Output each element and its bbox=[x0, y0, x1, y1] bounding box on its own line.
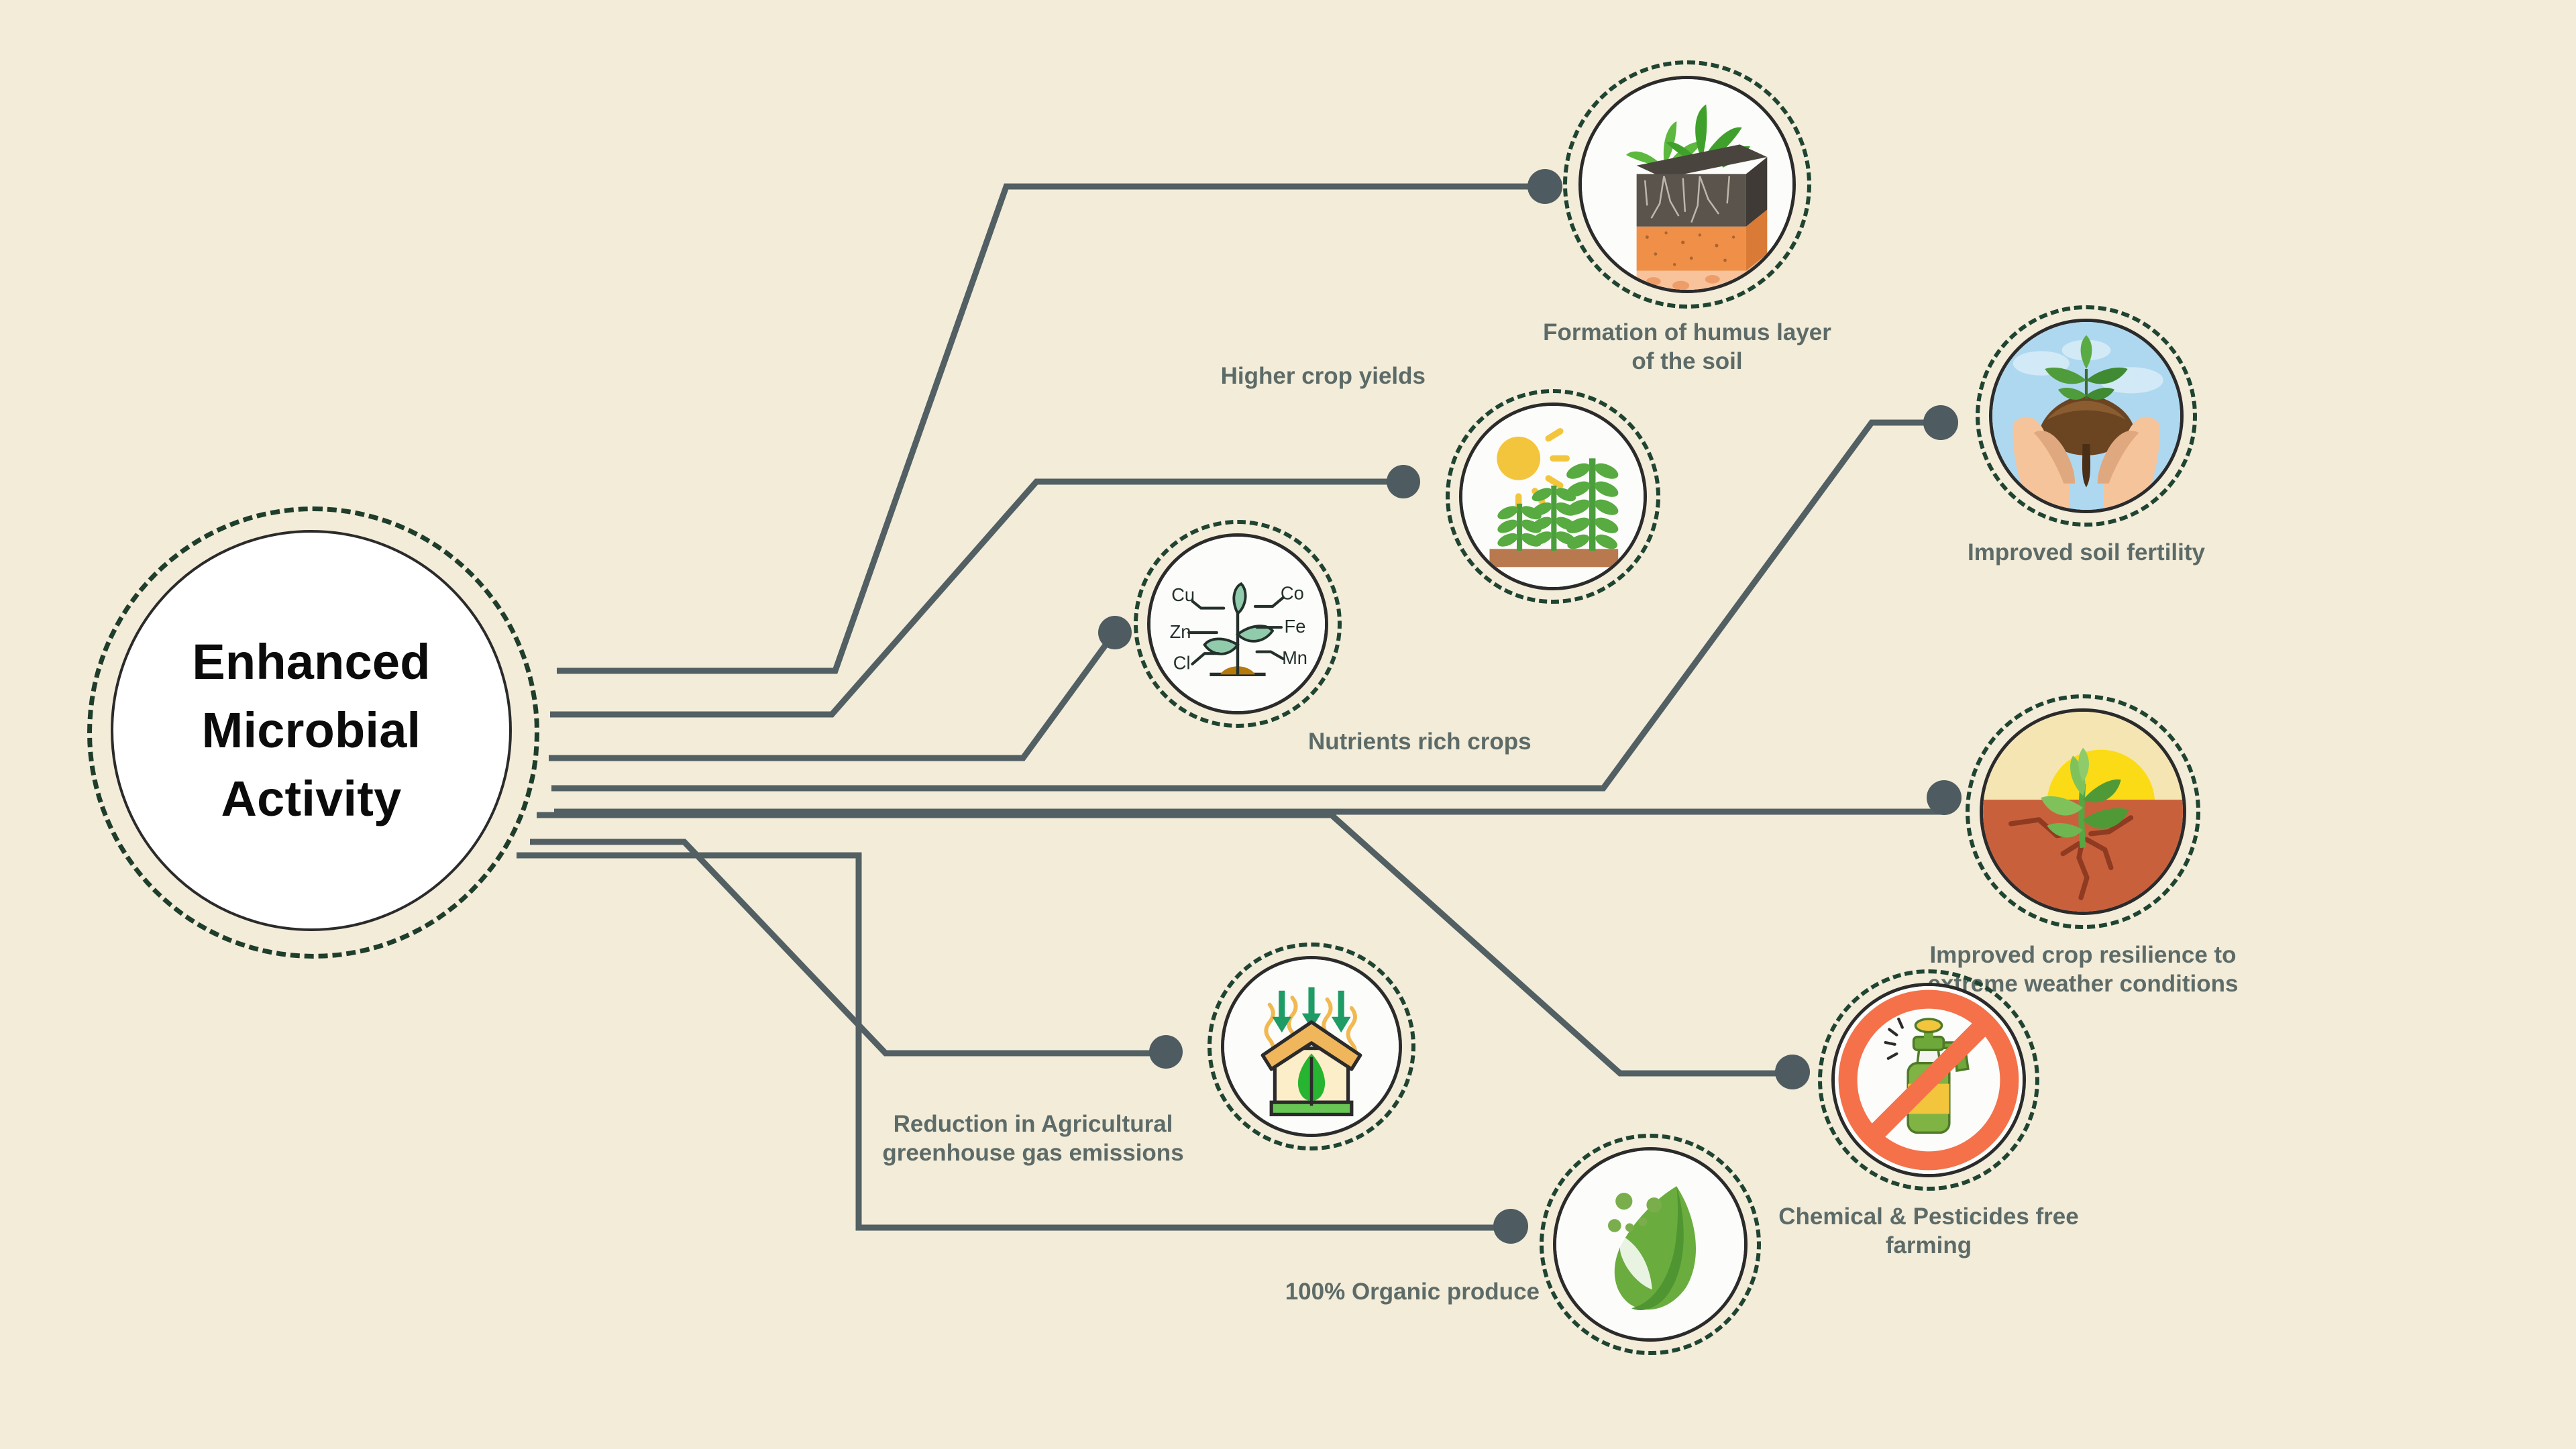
node-yields-label: Higher crop yields bbox=[1104, 362, 1426, 391]
wire-humus bbox=[557, 186, 1543, 671]
svg-text:Cu: Cu bbox=[1171, 584, 1195, 605]
node-nutrients[interactable]: Cu Zn Cl Co Fe Mn Nutrients rich crops bbox=[1134, 520, 1342, 728]
node-humus[interactable]: Formation of humus layer of the soil bbox=[1563, 60, 1811, 309]
node-nutrients-label: Nutrients rich crops bbox=[1308, 728, 1630, 757]
dot-greenhouse bbox=[1149, 1035, 1183, 1069]
node-pesticide[interactable]: Chemical & Pesticides free farming bbox=[1818, 969, 2039, 1191]
no-pesticide-sprayer-icon bbox=[1835, 986, 2023, 1174]
svg-text:Fe: Fe bbox=[1285, 616, 1306, 637]
green-leaf-icon bbox=[1556, 1150, 1744, 1338]
node-greenhouse[interactable]: Reduction in Agricultural greenhouse gas… bbox=[1207, 943, 1415, 1150]
svg-text:Mn: Mn bbox=[1282, 647, 1307, 668]
central-node-label: Enhanced Microbial Activity bbox=[192, 628, 430, 833]
node-humus-label: Formation of humus layer of the soil bbox=[1469, 319, 1905, 376]
node-pesticide-circle[interactable] bbox=[1831, 983, 2026, 1177]
node-resilience[interactable]: Improved crop resilience to extreme weat… bbox=[1966, 694, 2200, 929]
node-fertility-label: Improved soil fertility bbox=[1915, 539, 2257, 568]
dot-humus bbox=[1527, 169, 1562, 204]
wire-greenhouse bbox=[530, 842, 1167, 1053]
node-pesticide-label: Chemical & Pesticides free farming bbox=[1711, 1203, 2147, 1260]
node-greenhouse-circle[interactable] bbox=[1221, 956, 1402, 1137]
dot-fertility bbox=[1923, 405, 1958, 440]
node-resilience-circle[interactable] bbox=[1980, 708, 2186, 915]
svg-text:Zn: Zn bbox=[1170, 621, 1191, 642]
svg-text:Cl: Cl bbox=[1173, 653, 1191, 674]
node-organic-label: 100% Organic produce bbox=[1177, 1278, 1540, 1307]
node-humus-circle[interactable] bbox=[1578, 76, 1796, 293]
node-organic-circle[interactable] bbox=[1553, 1147, 1748, 1342]
central-node-enhanced-microbial-activity[interactable]: Enhanced Microbial Activity bbox=[111, 530, 512, 931]
crops-sun-icon bbox=[1462, 406, 1644, 587]
node-fertility-circle[interactable] bbox=[1989, 319, 2184, 513]
infographic-canvas: Enhanced Microbial Activity bbox=[0, 0, 2576, 1449]
node-greenhouse-label: Reduction in Agricultural greenhouse gas… bbox=[845, 1110, 1221, 1167]
greenhouse-gas-reduction-icon bbox=[1224, 959, 1399, 1134]
nutrient-seedling-icon: Cu Zn Cl Co Fe Mn bbox=[1150, 537, 1325, 711]
node-organic[interactable]: 100% Organic produce bbox=[1540, 1134, 1761, 1355]
node-nutrients-circle[interactable]: Cu Zn Cl Co Fe Mn bbox=[1147, 533, 1328, 714]
cracked-earth-plant-icon bbox=[1983, 712, 2183, 912]
dot-nutrients bbox=[1098, 616, 1132, 649]
dot-yields bbox=[1387, 465, 1420, 498]
hands-holding-soil-icon bbox=[1992, 322, 2180, 510]
svg-text:Co: Co bbox=[1281, 583, 1304, 604]
node-fertility[interactable]: Improved soil fertility bbox=[1976, 305, 2197, 527]
dot-resilience bbox=[1927, 780, 1962, 815]
wire-nutrients bbox=[549, 634, 1114, 758]
node-yields-circle[interactable] bbox=[1459, 402, 1647, 590]
soil-layers-icon bbox=[1582, 79, 1792, 290]
dot-pesticide bbox=[1775, 1055, 1810, 1089]
node-yields[interactable]: Higher crop yields bbox=[1446, 389, 1660, 604]
dot-organic bbox=[1493, 1209, 1528, 1244]
